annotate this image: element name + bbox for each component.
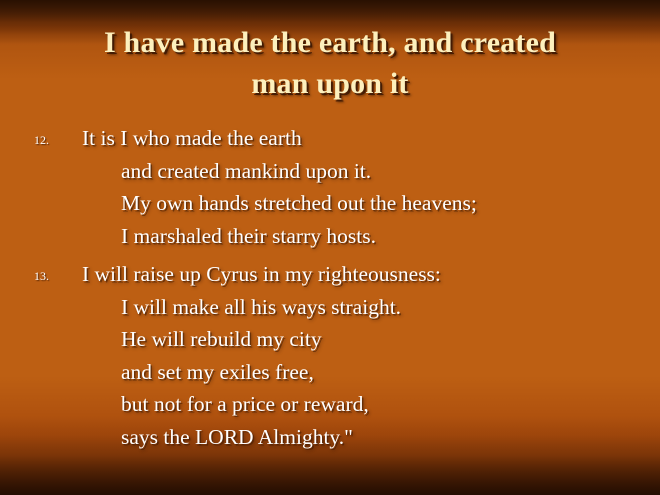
slide-body: 12. It is I who made the earth and creat… bbox=[0, 122, 660, 459]
verse-number: 13. bbox=[34, 270, 49, 282]
verse-line: says the LORD Almighty." bbox=[0, 421, 660, 454]
verse-line: My own hands stretched out the heavens; bbox=[0, 187, 660, 220]
verse-lines: It is I who made the earth and created m… bbox=[0, 122, 660, 252]
verse-lines: I will raise up Cyrus in my righteousnes… bbox=[0, 258, 660, 453]
verse-line: He will rebuild my city bbox=[0, 323, 660, 356]
slide-title: I have made the earth, and created man u… bbox=[30, 22, 630, 104]
verse-line: and set my exiles free, bbox=[0, 356, 660, 389]
verse-block: 13. I will raise up Cyrus in my righteou… bbox=[0, 258, 660, 453]
verse-line: It is I who made the earth bbox=[0, 122, 660, 155]
title-line-1: I have made the earth, and created bbox=[30, 22, 630, 63]
verse-line: I marshaled their starry hosts. bbox=[0, 220, 660, 253]
verse-line: I will make all his ways straight. bbox=[0, 291, 660, 324]
verse-block: 12. It is I who made the earth and creat… bbox=[0, 122, 660, 252]
verse-line: and created mankind upon it. bbox=[0, 155, 660, 188]
verse-line: I will raise up Cyrus in my righteousnes… bbox=[0, 258, 660, 291]
title-line-2: man upon it bbox=[30, 63, 630, 104]
presentation-slide: I have made the earth, and created man u… bbox=[0, 0, 660, 495]
verse-line: but not for a price or reward, bbox=[0, 388, 660, 421]
verse-number: 12. bbox=[34, 134, 49, 146]
